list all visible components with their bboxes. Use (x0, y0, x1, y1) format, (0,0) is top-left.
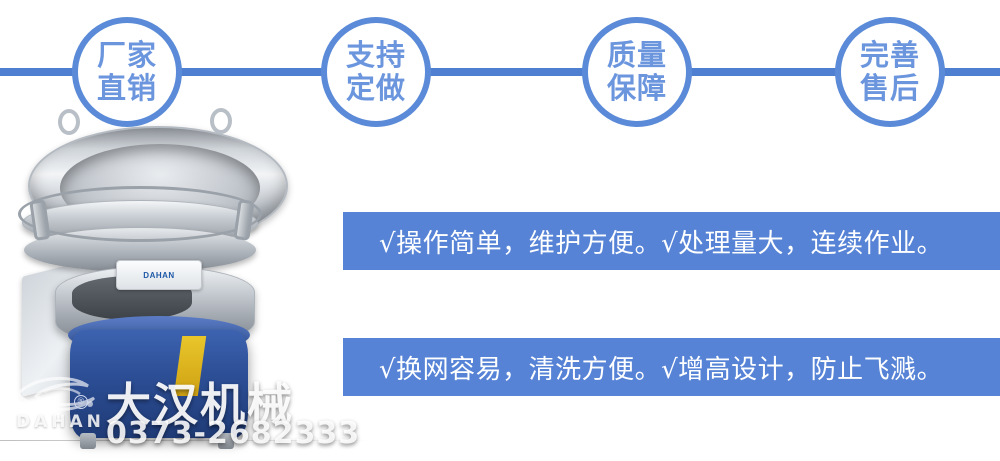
badge-line1: 完善 (860, 41, 920, 71)
clamp-ring (18, 186, 262, 242)
badge-factory-direct[interactable]: 厂家 直销 (72, 17, 182, 127)
lifting-ring-right-icon (210, 108, 232, 134)
connector-line-2 (428, 68, 588, 76)
feature-bar-1: √操作简单，维护方便。√处理量大，连续作业。 (343, 212, 1000, 270)
badge-line2: 定做 (346, 74, 406, 104)
feature-bar-1-text: √操作简单，维护方便。√处理量大，连续作业。 (343, 223, 943, 260)
connector-line-0 (0, 68, 80, 76)
badge-line2: 售后 (860, 74, 920, 104)
badge-line1: 厂家 (97, 41, 157, 71)
feature-bar-2-text: √换网容易，清洗方便。√增高设计，防止飞溅。 (343, 349, 943, 386)
lifting-ring-left-icon (58, 109, 80, 135)
promo-banner: 厂家 直销 支持 定做 质量 保障 完善 售后 DAHAN (0, 0, 1000, 461)
connector-line-3 (690, 68, 842, 76)
badge-line1: 支持 (346, 41, 406, 71)
machine-foot-left (80, 433, 96, 449)
feature-bar-2: √换网容易，清洗方便。√增高设计，防止飞溅。 (343, 338, 1000, 396)
product-nameplate: DAHAN (116, 260, 202, 290)
registered-trademark-icon: ® (74, 395, 88, 409)
product-image: DAHAN (10, 108, 310, 453)
badge-custom-made[interactable]: 支持 定做 (321, 17, 431, 127)
badge-line1: 质量 (607, 41, 667, 71)
connector-line-4 (940, 68, 1000, 76)
machine-foot-right (218, 433, 234, 449)
nameplate-logo-text: DAHAN (143, 271, 174, 280)
motor-base (70, 330, 248, 438)
badge-line2: 保障 (607, 74, 667, 104)
badge-quality-guarantee[interactable]: 质量 保障 (582, 17, 692, 127)
badge-after-sales[interactable]: 完善 售后 (835, 17, 945, 127)
badge-line2: 直销 (97, 74, 157, 104)
connector-line-1 (175, 68, 325, 76)
